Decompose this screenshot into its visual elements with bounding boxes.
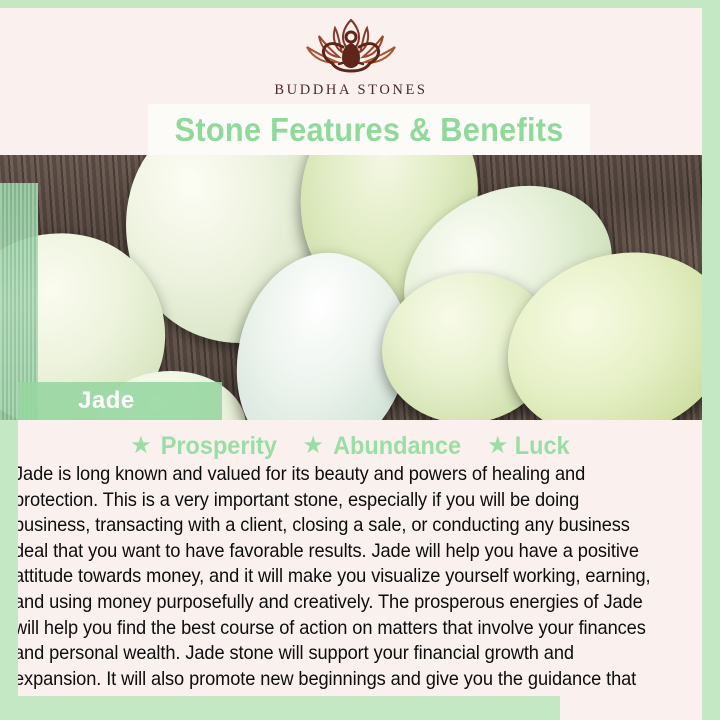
benefit-label: Abundance xyxy=(333,432,461,461)
jade-stones-photo xyxy=(0,155,702,420)
frame-top-edge xyxy=(0,0,720,8)
page-title: Stone Features & Benefits xyxy=(174,111,563,149)
header-title-band: Stone Features & Benefits xyxy=(148,104,590,156)
star-icon: ★ xyxy=(302,434,324,458)
brand-wordmark: BUDDHA STONES xyxy=(274,82,427,99)
benefit-label: Luck xyxy=(515,432,570,461)
stone-name-label: Jade xyxy=(78,387,135,415)
stone-info-card: BUDDHA STONES Stone Features & Benefits … xyxy=(0,0,720,720)
benefit-label: Prosperity xyxy=(160,432,276,461)
lotus-meditation-icon xyxy=(299,14,403,80)
frame-bottom-edge xyxy=(0,696,560,720)
frame-bottom-right-notch xyxy=(560,696,702,720)
stone-name-banner: Jade xyxy=(18,382,222,420)
benefit-item: ★ Luck xyxy=(487,432,572,461)
benefit-item: ★ Prosperity xyxy=(130,432,280,461)
star-icon: ★ xyxy=(130,434,152,458)
stone-description: Jade is long known and valued for its be… xyxy=(14,462,660,718)
star-icon: ★ xyxy=(487,434,509,458)
frame-left-edge xyxy=(0,420,18,696)
benefit-item: ★ Abundance xyxy=(302,432,465,461)
brand-logo-block: BUDDHA STONES xyxy=(0,8,702,108)
benefits-row: ★ Prosperity ★ Abundance ★ Luck xyxy=(0,428,702,464)
frame-right-edge xyxy=(702,0,720,720)
